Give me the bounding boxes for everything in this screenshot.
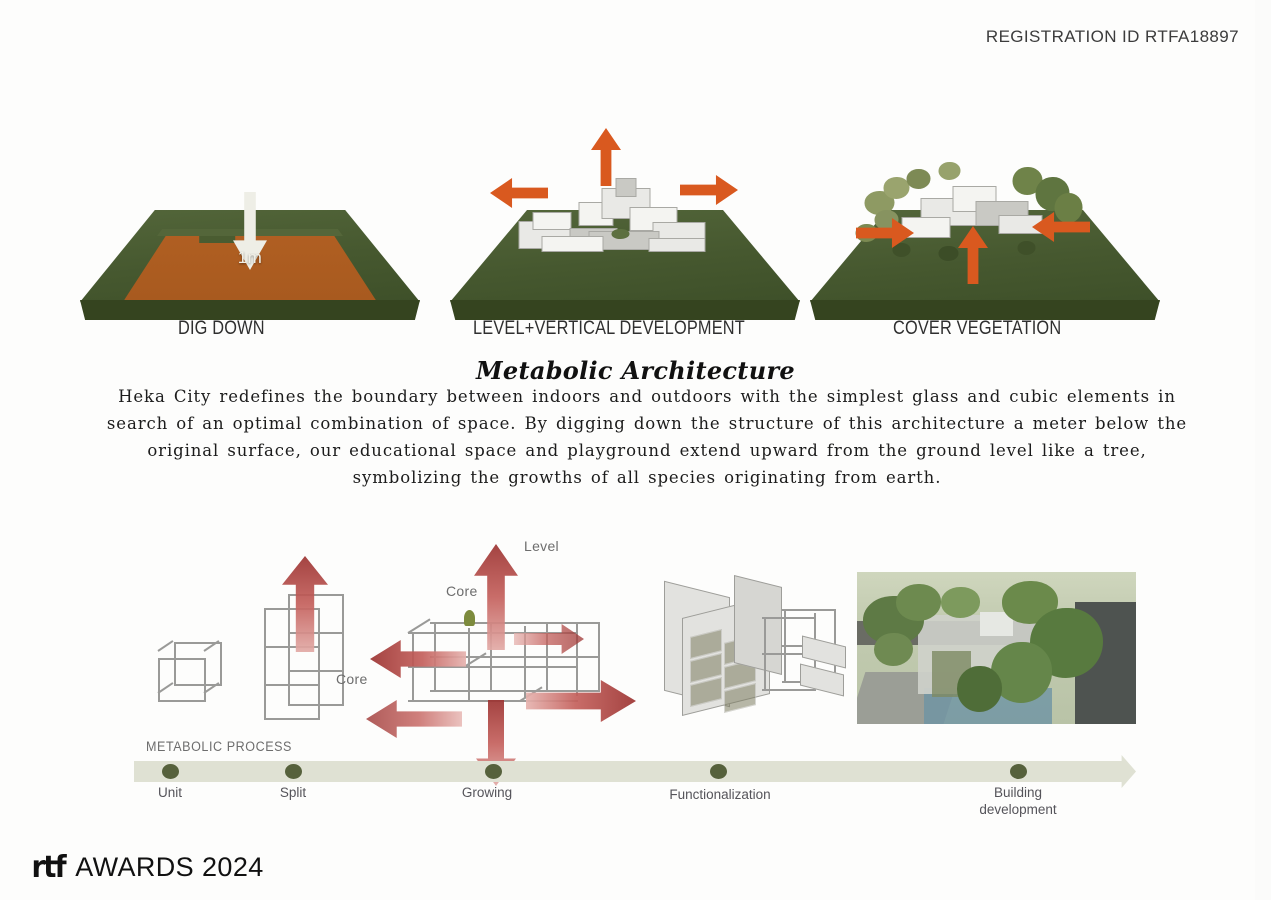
ground-plate-front <box>810 300 1160 320</box>
label-core-growing: Core <box>446 583 478 599</box>
massing-diagram-level-vertical <box>450 120 800 320</box>
process-diagram-unit <box>150 640 230 712</box>
timeline-label-building: Building development <box>979 784 1056 818</box>
massing-diagram-row: 1m <box>0 120 1271 345</box>
timeline-dot-functionalization[interactable] <box>710 764 727 779</box>
timeline-dot-building[interactable] <box>1010 764 1027 779</box>
timeline-label-growing: Growing <box>462 784 512 801</box>
presentation-board: REGISTRATION ID RTFA18897 1m <box>0 0 1271 900</box>
timeline-arrowhead-icon <box>1104 755 1136 788</box>
massing-diagram-cover-vegetation <box>810 120 1160 320</box>
stage-label-vegetation: COVER VEGETATION <box>893 318 1061 340</box>
label-core-split: Core <box>336 671 368 687</box>
rtf-logo-icon: rtf <box>31 850 64 885</box>
registration-id: REGISTRATION ID RTFA18897 <box>986 27 1239 47</box>
dig-depth-label: 1m <box>238 248 263 268</box>
massing-diagram-dig-down: 1m <box>80 120 420 320</box>
awards-label: AWARDS 2024 <box>75 852 263 883</box>
footer: rtf AWARDS 2024 <box>30 850 264 885</box>
process-diagram-split <box>258 560 368 720</box>
timeline-bar <box>134 761 1104 782</box>
timeline-label-functionalization: Functionalization <box>669 786 770 803</box>
label-level: Level <box>524 538 559 554</box>
stage-label-dig-down: DIG DOWN <box>178 318 265 340</box>
final-render-image <box>857 572 1136 724</box>
timeline-dot-split[interactable] <box>285 764 302 779</box>
ground-plate-front <box>80 300 420 320</box>
core-marker-icon <box>464 610 475 626</box>
timeline-dot-unit[interactable] <box>162 764 179 779</box>
timeline-label-split: Split <box>280 784 306 801</box>
page-title: Metabolic Architecture <box>0 356 1271 385</box>
timeline-title: METABOLIC PROCESS <box>146 739 292 754</box>
timeline-label-unit: Unit <box>158 784 182 801</box>
timeline-dot-growing[interactable] <box>485 764 502 779</box>
project-description: Heka City redefines the boundary between… <box>92 383 1202 491</box>
process-diagram-growing <box>378 560 638 760</box>
process-diagram-functionalization <box>650 575 850 725</box>
stage-label-level: LEVEL+VERTICAL DEVELOPMENT <box>473 318 745 340</box>
ground-plate-front <box>450 300 800 320</box>
